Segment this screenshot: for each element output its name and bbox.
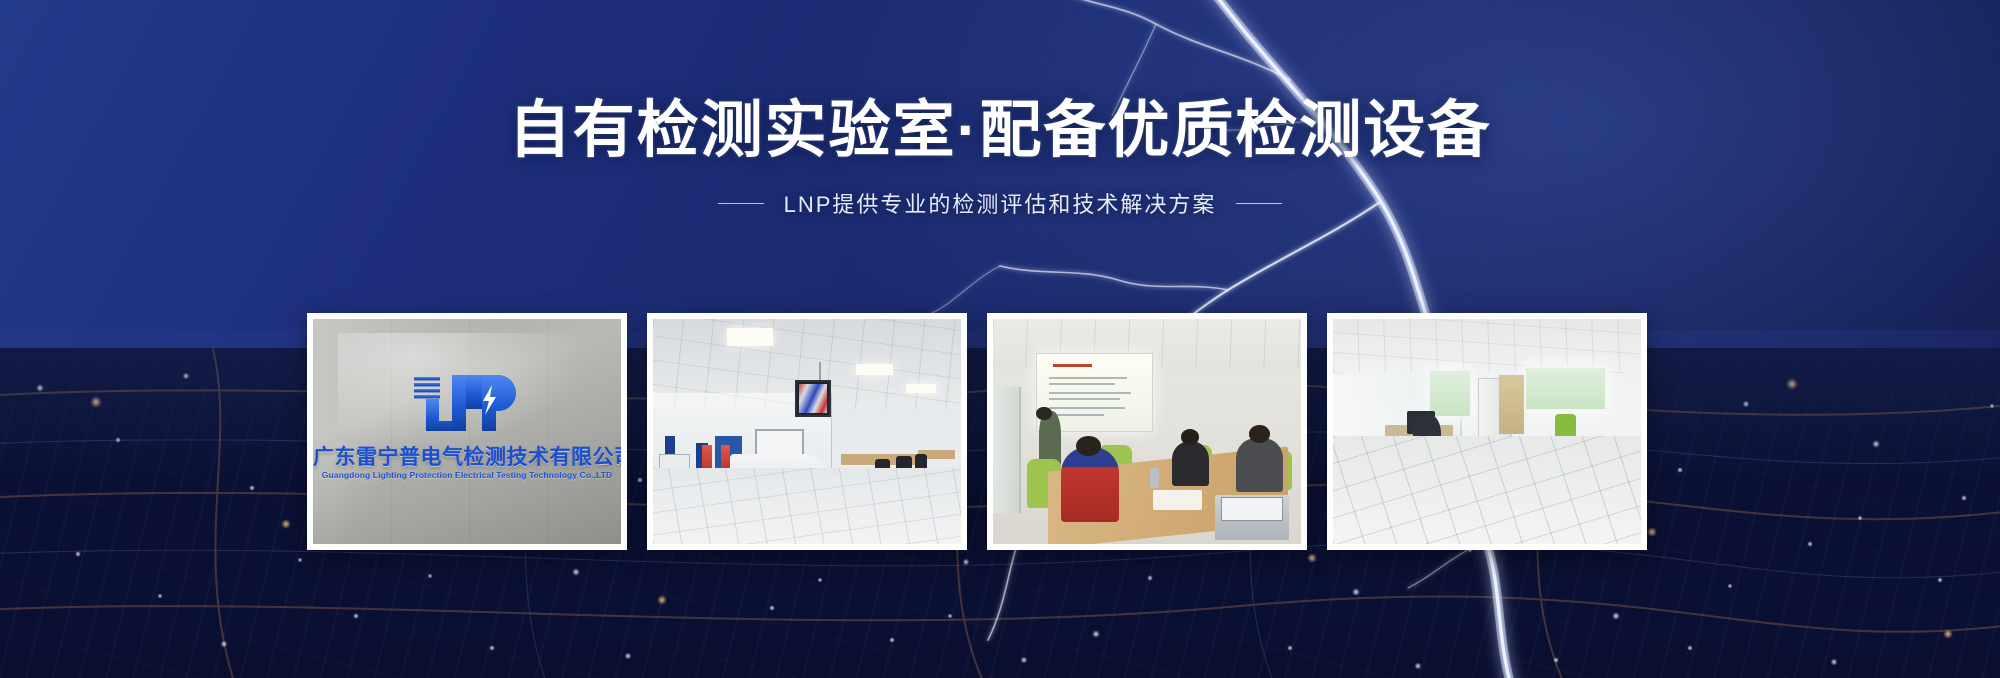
attendee-front-head [1076, 436, 1101, 456]
office-floor [1333, 436, 1641, 544]
rule-right [1236, 203, 1282, 204]
presenter-head [1036, 407, 1051, 421]
documents-on-table [1153, 490, 1202, 510]
slide-title-bar [1053, 364, 1092, 367]
gallery-card-signage[interactable]: 广东雷宁普电气检测技术有限公司 Guangdong Lighting Prote… [307, 313, 627, 550]
lnp-logo-icon [408, 369, 526, 433]
office-ceiling [1333, 319, 1641, 373]
signage-company-name-en: Guangdong Lighting Protection Electrical… [313, 470, 621, 480]
lab-floor [653, 468, 961, 545]
attendee-left [1172, 441, 1209, 486]
hero-banner: 自有检测实验室·配备优质检测设备 LNP提供专业的检测评估和技术解决方案 [0, 0, 2000, 678]
attendee-front [1061, 447, 1120, 521]
wall-monitor [795, 380, 831, 417]
banner-text-block: 自有检测实验室·配备优质检测设备 LNP提供专业的检测评估和技术解决方案 [0, 96, 2000, 219]
photo-testing-laboratory [653, 319, 961, 544]
signage-company-name-cn: 广东雷宁普电气检测技术有限公司 [313, 441, 621, 471]
photo-meeting-room [993, 319, 1301, 544]
gallery-card-meeting-room[interactable] [987, 313, 1307, 550]
window-right [1524, 366, 1607, 411]
ceiling-light-1 [727, 328, 773, 346]
thermos-cup [1150, 468, 1159, 488]
ceiling-light-3 [906, 384, 937, 393]
page-title: 自有检测实验室·配备优质检测设备 [0, 96, 2000, 165]
subtitle-row: LNP提供专业的检测评估和技术解决方案 [0, 187, 2000, 219]
wooden-shelf [1499, 375, 1524, 434]
laptop-screen [1221, 497, 1283, 520]
gallery-card-office[interactable] [1327, 313, 1647, 550]
glass-door [993, 387, 1021, 513]
slide-line-2 [1049, 383, 1116, 385]
ceiling-light-2 [856, 364, 893, 375]
photo-office [1333, 319, 1641, 544]
photo-company-signage: 广东雷宁普电气检测技术有限公司 Guangdong Lighting Prote… [313, 319, 621, 544]
window-left [1428, 369, 1471, 419]
slide-line-1 [1049, 377, 1127, 379]
gallery-card-laboratory[interactable] [647, 313, 967, 550]
attendee-right-head [1249, 425, 1271, 443]
attendee-right [1236, 438, 1282, 492]
rule-left [718, 203, 764, 204]
monitor-content [799, 384, 827, 413]
laptop [1215, 495, 1289, 540]
slide-line-4 [1049, 398, 1120, 400]
photo-gallery: 广东雷宁普电气检测技术有限公司 Guangdong Lighting Prote… [307, 313, 1647, 550]
slide-line-5 [1049, 407, 1125, 409]
slide-line-3 [1049, 392, 1132, 394]
page-subtitle: LNP提供专业的检测评估和技术解决方案 [784, 187, 1217, 219]
